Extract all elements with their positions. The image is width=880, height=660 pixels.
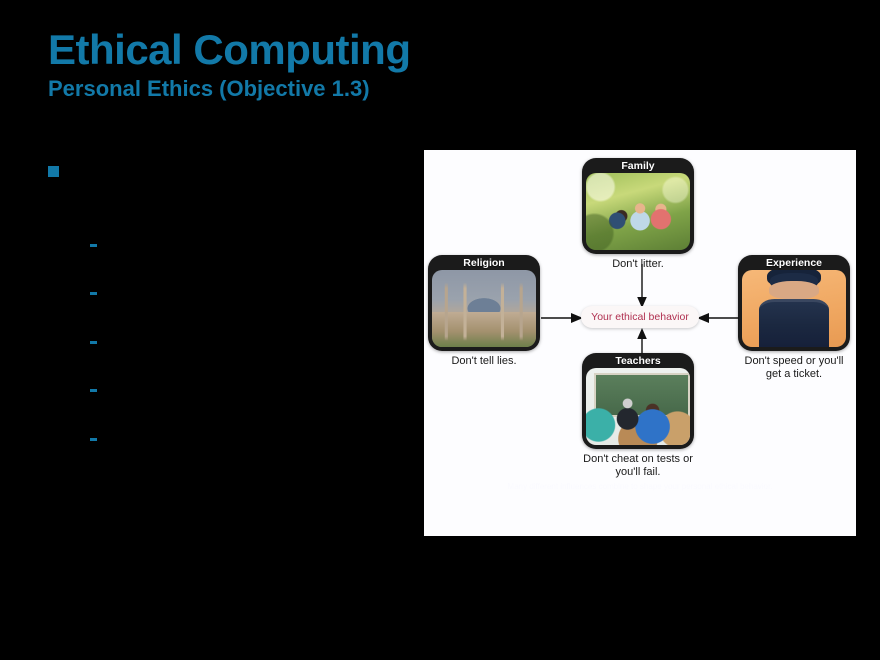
page-title: Ethical Computing (48, 28, 468, 72)
bullet-dash-icon (90, 244, 97, 247)
classroom-teacher-photo (586, 368, 690, 445)
sub-bullet-item: Religion, teachers, and personal experie… (90, 332, 398, 368)
sub-bullet-item: Your ethical behavior is the result of a… (90, 380, 398, 416)
node-title: Teachers (582, 353, 694, 370)
node-frame: Family (582, 158, 694, 254)
node-title: Religion (428, 255, 540, 272)
node-frame: Teachers (582, 353, 694, 449)
body-content: Your personal ethics are the principles … (48, 160, 398, 477)
sub-bullet-item: Different people can reach different con… (90, 429, 398, 465)
blue-mosque-photo (432, 270, 536, 347)
arrow-left-icon (697, 308, 739, 328)
sub-bullet-item: Ethics come from many different influenc… (90, 235, 398, 271)
figure-panel: Family Don't litter. Religion Don't tell… (424, 150, 856, 536)
police-officer-photo (742, 270, 846, 347)
arrow-right-icon (541, 308, 583, 328)
diagram-node-experience: Experience Don't speed or you'll get a t… (738, 255, 850, 381)
bullet-dash-icon (90, 389, 97, 392)
bullet-square-icon (48, 166, 59, 177)
sub-bullet-text: Your ethical behavior is the result of a… (105, 380, 398, 416)
sub-bullet-text: Different people can reach different con… (105, 429, 398, 465)
node-frame: Religion (428, 255, 540, 351)
diagram-node-religion: Religion Don't tell lies. (428, 255, 540, 368)
node-caption: Don't speed or you'll get a ticket. (738, 355, 850, 381)
bullet-dash-icon (90, 438, 97, 441)
bullet-text: Your personal ethics are the principles … (69, 160, 398, 221)
bullet-dash-icon (90, 292, 97, 295)
center-node-label: Your ethical behavior (591, 311, 689, 323)
bullet-item: Your personal ethics are the principles … (48, 160, 398, 221)
family-bike-ride-photo (586, 173, 690, 250)
bullet-dash-icon (90, 341, 97, 344)
sub-bullet-text: Family teaches you basic right and wrong… (105, 283, 398, 319)
sub-bullet-text: Ethics come from many different influenc… (105, 235, 398, 271)
diagram-node-family: Family Don't litter. (582, 158, 694, 271)
node-caption: Don't cheat on tests or you'll fail. (582, 453, 694, 479)
node-caption: Don't tell lies. (428, 355, 540, 368)
slide-header: Ethical Computing Personal Ethics (Objec… (48, 28, 468, 101)
diagram-node-teachers: Teachers Don't cheat on tests or you'll … (582, 353, 694, 479)
arrow-up-icon (632, 328, 652, 354)
sub-bullet-text: Religion, teachers, and personal experie… (105, 332, 398, 368)
diagram-center-node: Your ethical behavior (581, 306, 699, 328)
arrow-down-icon (632, 264, 652, 308)
node-title: Family (582, 158, 694, 175)
figure-caption: Many different influences combine to sha… (438, 482, 842, 492)
sub-bullet-item: Family teaches you basic right and wrong… (90, 283, 398, 319)
page-subtitle: Personal Ethics (Objective 1.3) (48, 76, 468, 101)
node-frame: Experience (738, 255, 850, 351)
node-title: Experience (738, 255, 850, 272)
